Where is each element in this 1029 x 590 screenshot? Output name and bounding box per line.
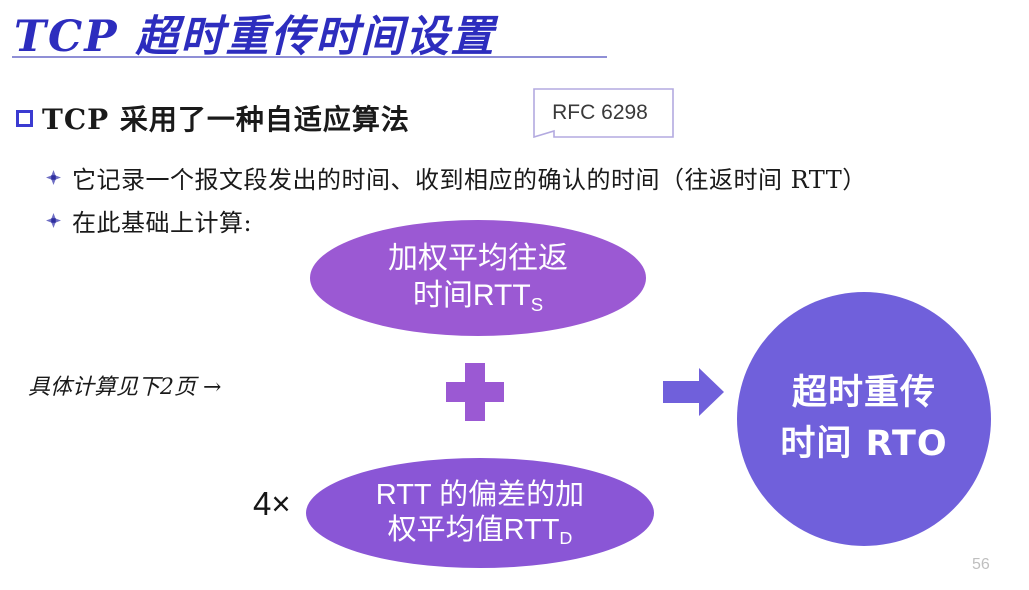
ellipse-rtts-line1: 加权平均往返 — [388, 242, 568, 275]
ellipse-rtts-subscript: S — [531, 294, 543, 315]
rfc-reference-callout: RFC 6298 — [526, 88, 674, 138]
title-underline-rule — [12, 56, 607, 58]
ellipse-rttd-line2: 权平均值RTT — [388, 514, 560, 546]
circle-rto-line2: 时间 RTO — [780, 424, 947, 464]
bullet-level2-rtt-record: 它记录一个报文段发出的时间、收到相应的确认的时间（往返时间 RTT） — [46, 160, 867, 195]
multiplier-label: 4× — [253, 485, 291, 523]
plus-vertical-bar — [465, 363, 485, 421]
right-arrow-shape — [663, 367, 725, 417]
right-arrow-icon — [663, 367, 725, 417]
bullet-level2-label: 在此基础上计算: — [72, 203, 252, 238]
circle-rto-label: 超时重传 时间 RTO — [780, 368, 947, 470]
rfc-callout-label: RFC 6298 — [526, 88, 674, 138]
bullet-level2-label: 它记录一个报文段发出的时间、收到相应的确认的时间（往返时间 RTT） — [72, 160, 867, 195]
page-title: TCP 超时重传时间设置 — [14, 2, 496, 64]
hollow-square-bullet-icon — [16, 110, 33, 127]
diamond-bullet-icon — [46, 213, 61, 228]
plus-operator-icon — [446, 363, 504, 421]
ellipse-rttd-line1: RTT 的偏差的加 — [376, 479, 584, 511]
ellipse-rttd-label: RTT 的偏差的加 权平均值RTTD — [376, 478, 584, 549]
ellipse-rtts-label: 加权平均往返 时间RTTS — [388, 241, 568, 314]
circle-retransmission-timeout: 超时重传 时间 RTO — [737, 292, 991, 546]
bullet-level1: TCP 采用了一种自适应算法 — [16, 98, 410, 138]
ellipse-rtts-line2: 时间RTT — [413, 279, 531, 312]
diamond-bullet-icon — [46, 170, 61, 185]
bullet-level1-label: TCP 采用了一种自适应算法 — [42, 98, 410, 138]
circle-rto-line1: 超时重传 — [792, 373, 936, 413]
side-note-text: 具体计算见下2页 → — [28, 369, 221, 401]
page-number: 56 — [972, 556, 990, 574]
ellipse-rtt-deviation: RTT 的偏差的加 权平均值RTTD — [306, 458, 654, 568]
ellipse-rttd-subscript: D — [559, 528, 572, 548]
ellipse-weighted-average-rtt: 加权平均往返 时间RTTS — [310, 220, 646, 336]
slide-canvas: TCP 超时重传时间设置 TCP 采用了一种自适应算法 RFC 6298 它记录… — [0, 0, 1029, 590]
bullet-level2-compute: 在此基础上计算: — [46, 203, 252, 238]
